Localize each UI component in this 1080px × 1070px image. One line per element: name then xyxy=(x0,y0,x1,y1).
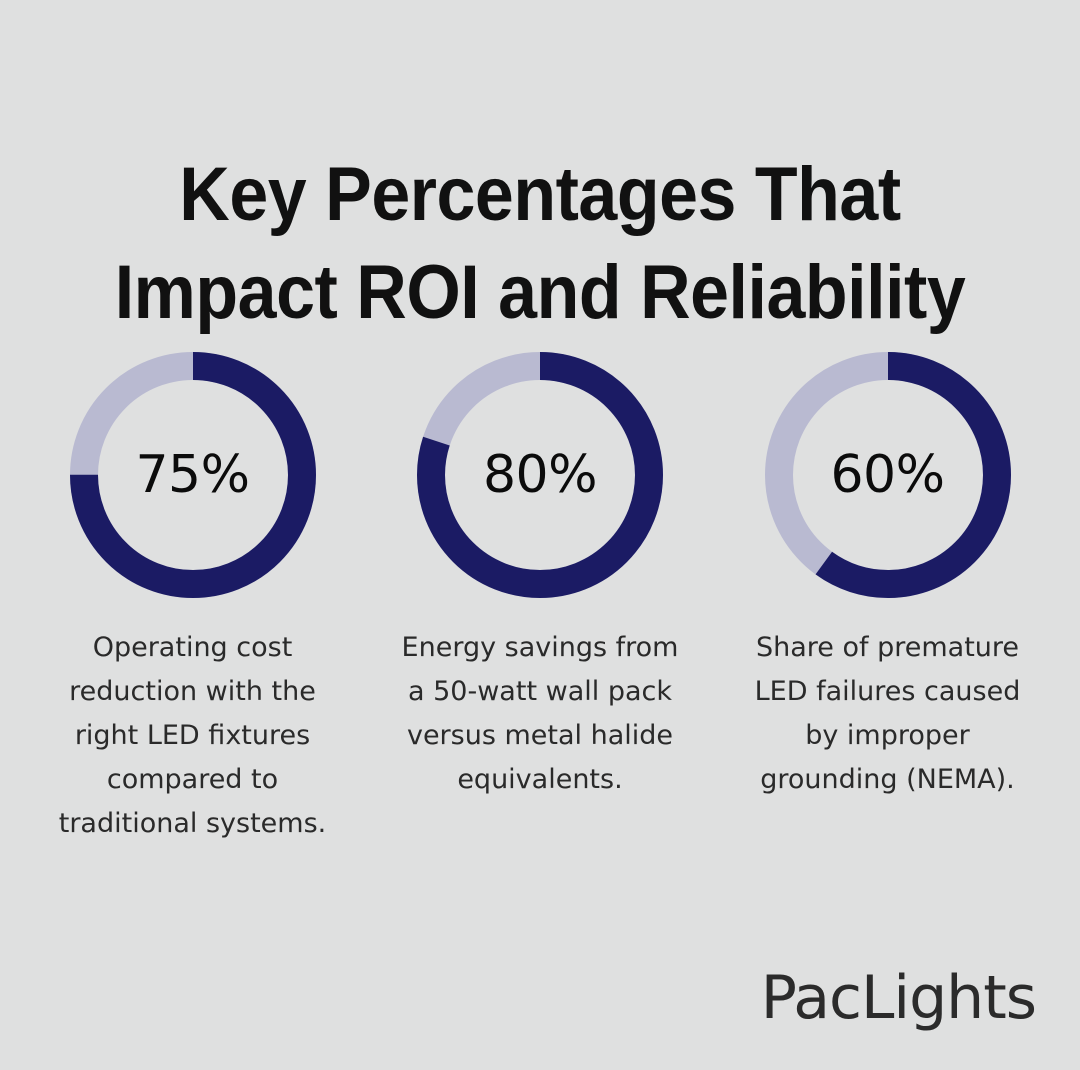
stats-row: 75% Operating cost reduction with the ri… xyxy=(19,352,1061,873)
stat-caption-3: Share of premature LED failures caused b… xyxy=(738,626,1038,802)
page-title-line-2: Impact ROI and Reliability xyxy=(80,244,1000,342)
brand-logo: PacLights xyxy=(761,968,1036,1028)
donut-chart-3: 60% xyxy=(765,352,1011,598)
donut-chart-2: 80% xyxy=(417,352,663,598)
page-title: Key Percentages That Impact ROI and Reli… xyxy=(80,146,1000,342)
stat-column-2: 80% Energy savings from a 50-watt wall p… xyxy=(367,352,714,829)
page-title-line-1: Key Percentages That xyxy=(80,146,1000,244)
infographic-canvas: Key Percentages That Impact ROI and Reli… xyxy=(0,0,1080,1070)
stat-caption-1: Operating cost reduction with the right … xyxy=(43,626,343,846)
donut-value-3: 60% xyxy=(765,352,1011,598)
donut-chart-1: 75% xyxy=(70,352,316,598)
donut-value-2: 80% xyxy=(417,352,663,598)
stat-column-1: 75% Operating cost reduction with the ri… xyxy=(19,352,366,873)
stat-caption-2: Energy savings from a 50-watt wall pack … xyxy=(390,626,690,802)
stat-column-3: 60% Share of premature LED failures caus… xyxy=(714,352,1061,829)
donut-value-1: 75% xyxy=(70,352,316,598)
